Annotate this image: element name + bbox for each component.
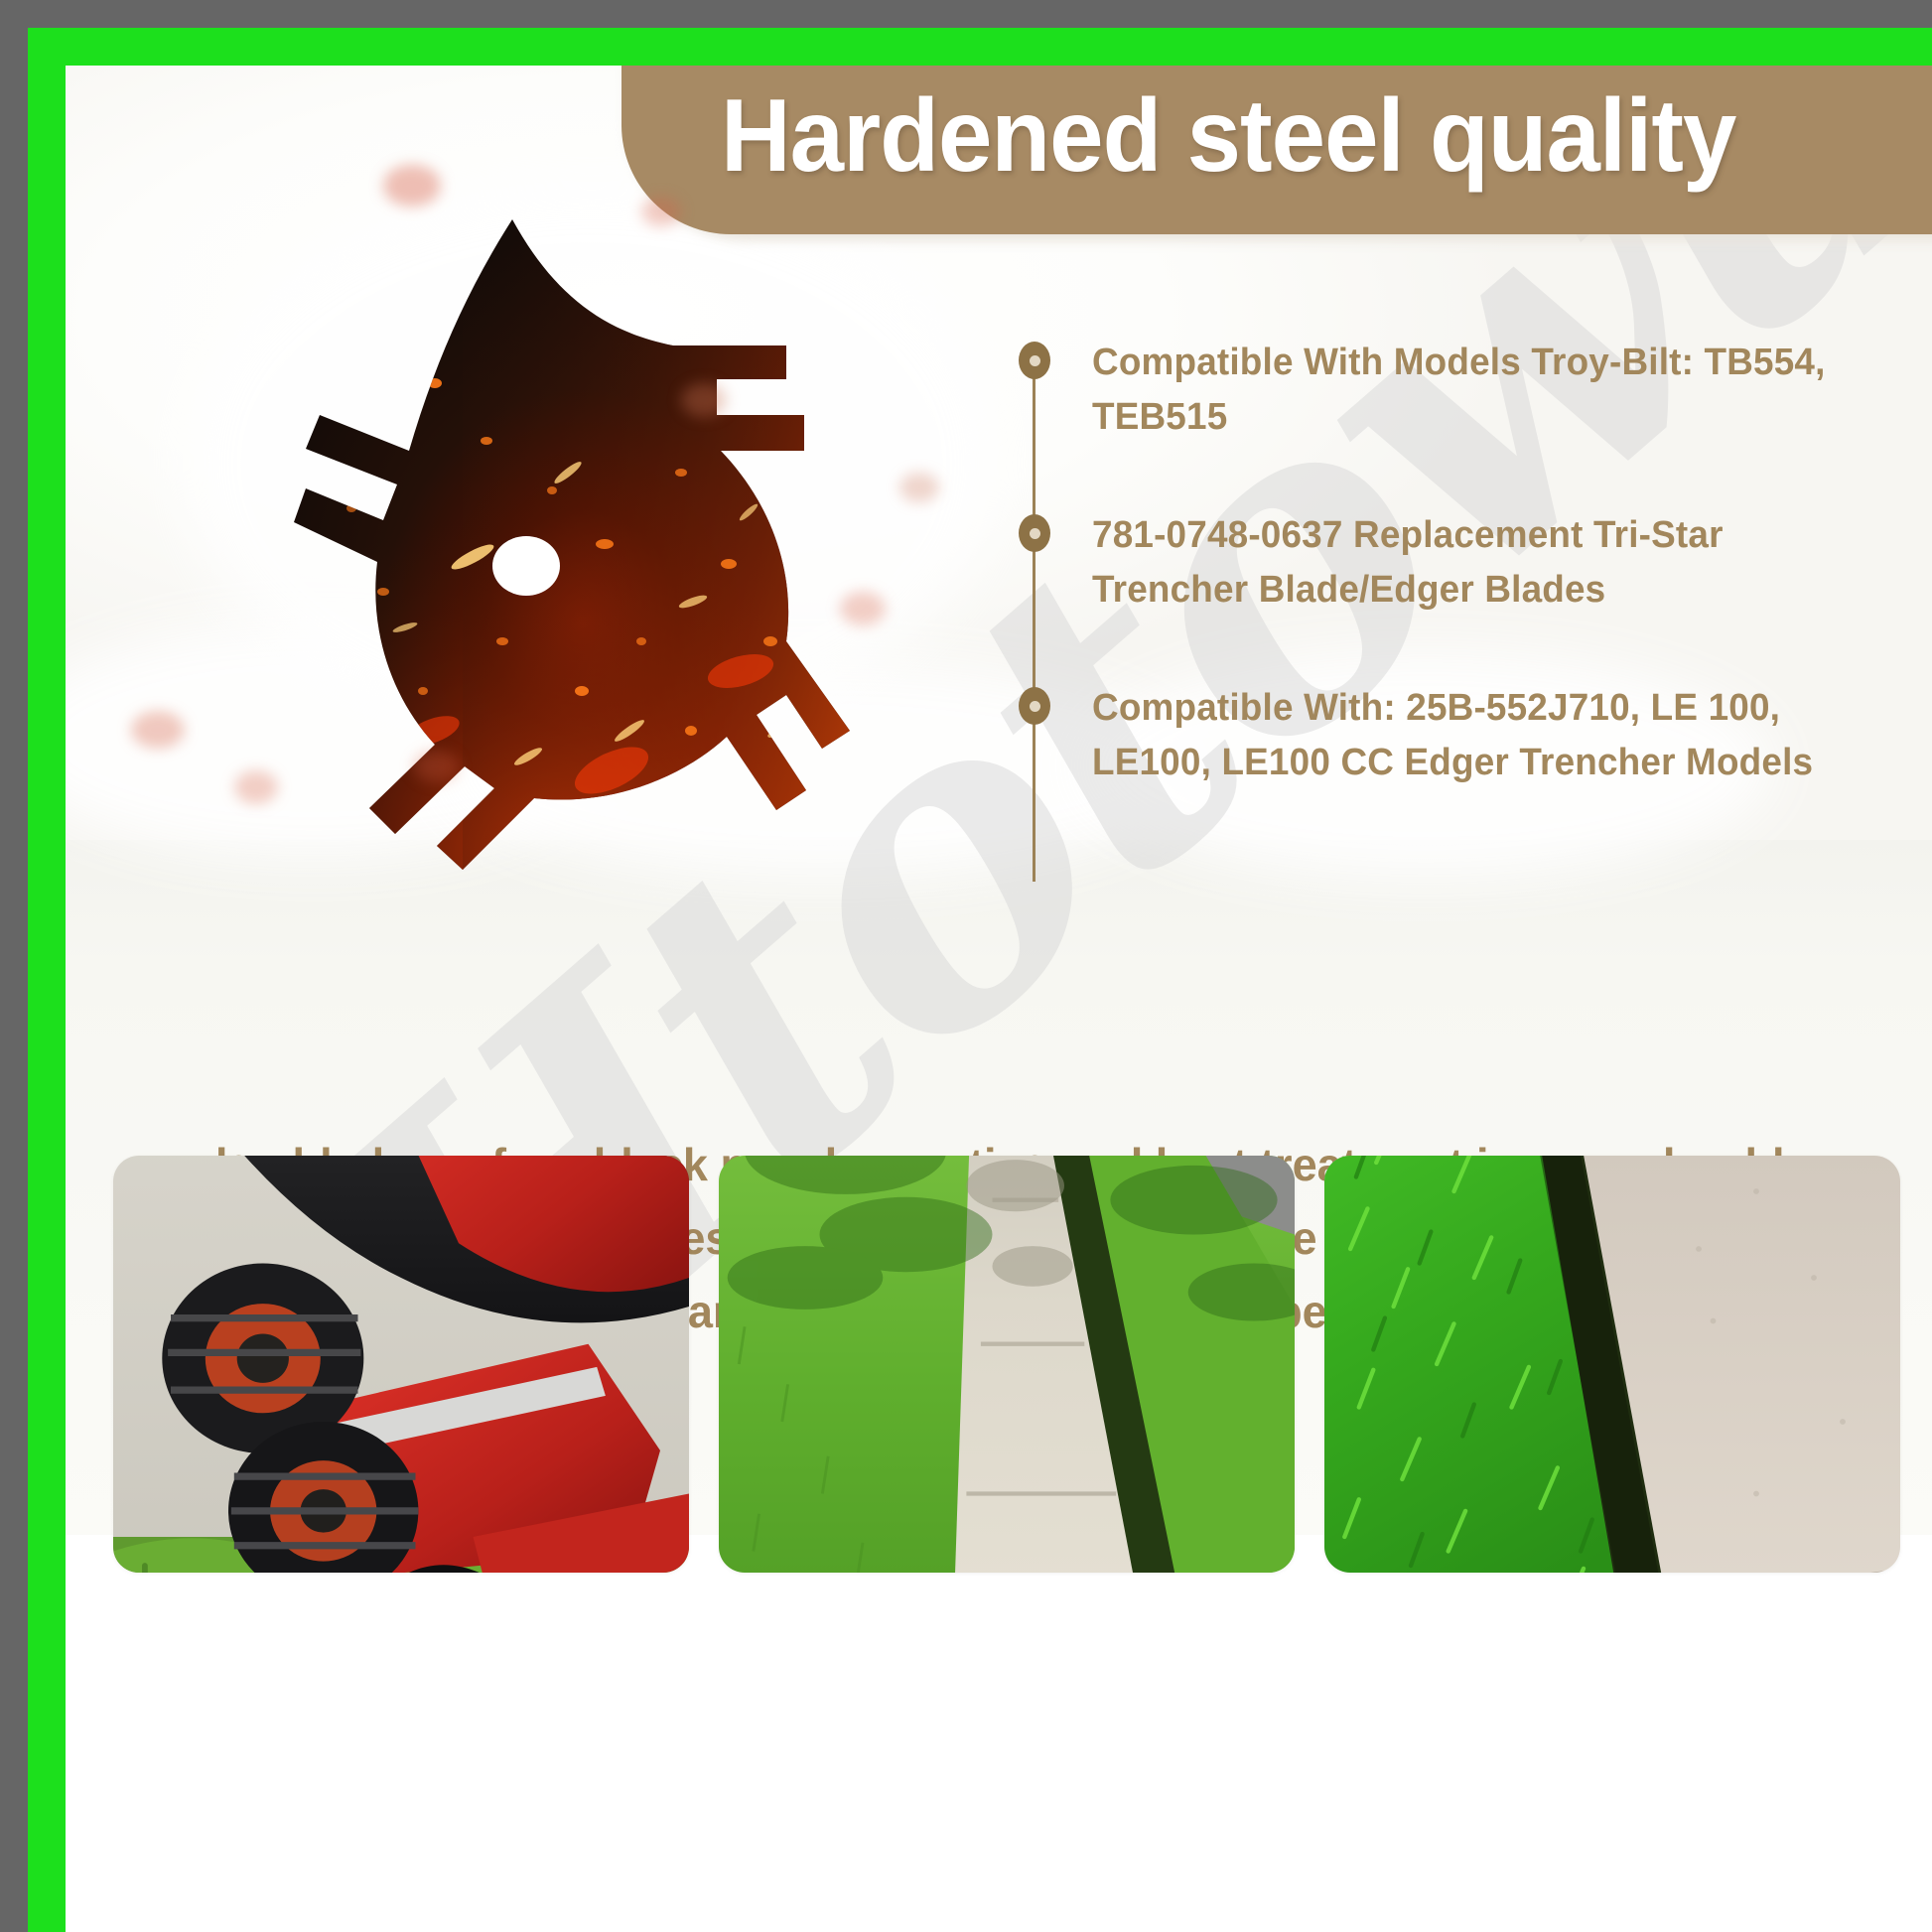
bullet-dot-icon [1019,342,1050,379]
photo-edged-sidewalk [719,1156,1295,1573]
bullet-dot-icon [1019,514,1050,552]
center-hole [492,536,560,596]
photo-strip [113,1156,1900,1573]
feature-text: Compatible With: 25B-552J710, LE 100, LE… [1092,681,1853,790]
bullet-dot-icon [1019,687,1050,725]
feature-text: Compatible With Models Troy-Bilt: TB554,… [1092,336,1853,445]
photo-edger-machine [113,1156,689,1573]
feature-list: Compatible With Models Troy-Bilt: TB554,… [1019,336,1892,854]
feature-connector-line [1033,375,1035,882]
feature-item[interactable]: Compatible With Models Troy-Bilt: TB554,… [1019,336,1892,445]
product-image-blade [85,175,959,919]
tri-star-blade-icon [85,175,959,919]
photo-grass-concrete-edge [1324,1156,1900,1573]
feature-item[interactable]: 781-0748-0637 Replacement Tri-Star Trenc… [1019,508,1892,618]
feature-text: 781-0748-0637 Replacement Tri-Star Trenc… [1092,508,1853,618]
product-infographic: Htotowus Hardened steel quality [0,0,1932,1932]
content-canvas: Htotowus Hardened steel quality [66,66,1932,1932]
feature-item[interactable]: Compatible With: 25B-552J710, LE 100, LE… [1019,681,1892,790]
